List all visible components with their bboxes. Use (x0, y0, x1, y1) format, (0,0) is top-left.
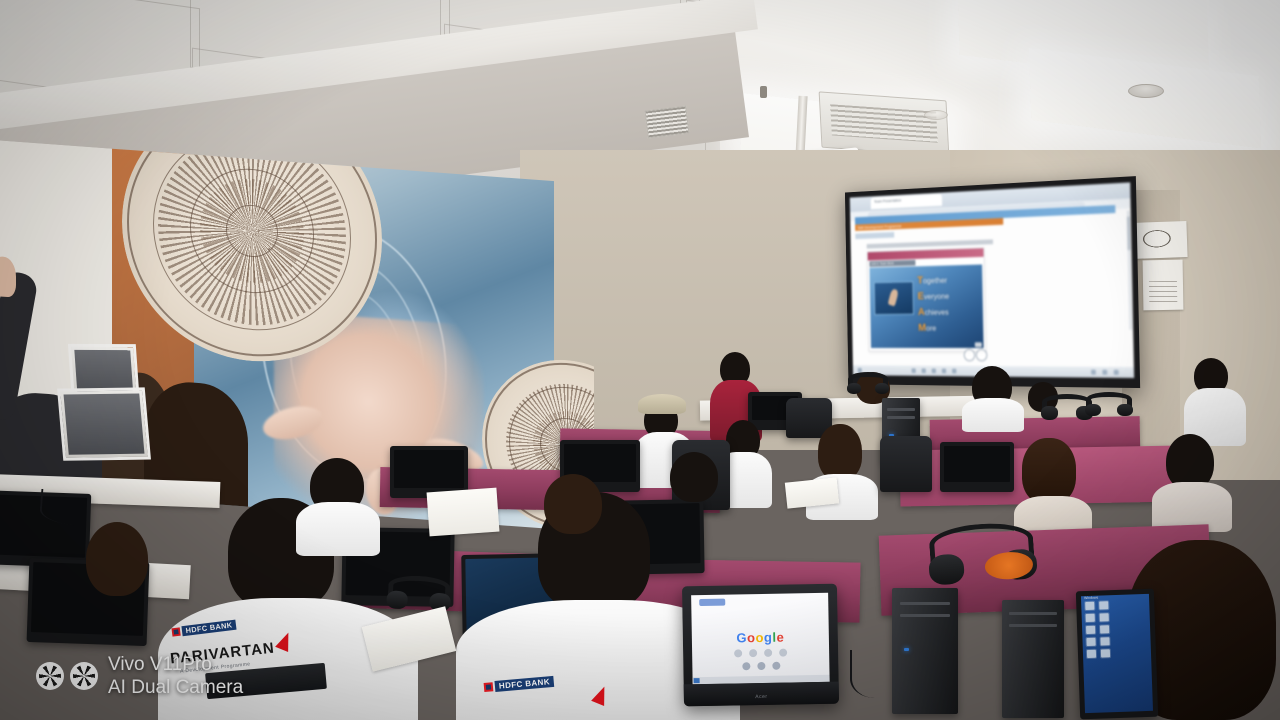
sprinkler-head (760, 86, 767, 98)
media-prev-icon[interactable] (964, 349, 975, 361)
watermark-icons (36, 662, 98, 690)
hdfc-mark-icon (171, 627, 180, 636)
monitor-brand-label: Acer (755, 694, 767, 700)
windows-desktop[interactable]: Windows (1081, 594, 1153, 713)
student-head-center-2 (544, 474, 602, 534)
watermark-text: Vivo V11Pro AI Dual Camera (108, 653, 243, 701)
watermark-line-2: AI Dual Camera (108, 676, 243, 700)
wall-notice-top (1130, 221, 1187, 259)
camera-shutter-icon (36, 662, 64, 690)
slide-panel-label: Unit 4: Team Work (871, 261, 894, 265)
monitor-bezel-bottom: Acer (684, 682, 839, 707)
media-play-icon[interactable] (976, 349, 988, 361)
chair-mid-2 (880, 436, 932, 492)
student-head-left-2 (86, 522, 148, 596)
student-shirt-left-3 (296, 502, 380, 556)
baseball-cap-icon (638, 394, 686, 414)
slide-badge-icon (975, 342, 982, 347)
foreground-monitor: Google Acer (682, 584, 839, 707)
slide-card: Unit 4: Team Work Together Everyone (867, 247, 987, 351)
team-acronym-list: Together Everyone Achieves More (917, 271, 981, 336)
student-head-center-3 (670, 452, 718, 502)
wall-notice-bottom (1143, 260, 1184, 311)
smoke-detector-2 (924, 110, 948, 120)
start-button-icon[interactable] (694, 678, 700, 683)
team-word: chieves (925, 307, 949, 317)
team-word: veryone (924, 291, 949, 301)
headset-front-orange[interactable] (928, 520, 1036, 585)
right-monitor: Windows (1076, 589, 1158, 720)
browser-tab-thumb[interactable] (699, 599, 725, 606)
headset-back-right-2 (1086, 392, 1132, 416)
projection-screen-content: Team Presentation Skill Development Prog… (850, 182, 1134, 378)
projection-screen: Team Presentation Skill Development Prog… (845, 176, 1140, 388)
cable-bundle-2 (850, 650, 912, 698)
headset-back-left (848, 372, 888, 394)
air-grille (644, 106, 689, 139)
slide-thumbnail (874, 281, 914, 315)
google-homepage[interactable]: Google (691, 593, 830, 684)
windows-label: Windows (1084, 596, 1098, 600)
team-word: ogether (923, 275, 947, 285)
ac-vent-ceiling (819, 91, 950, 156)
person-shirt-back-1 (962, 398, 1024, 432)
cpu-tower-front-right (1002, 600, 1064, 718)
site-banner-label: Skill Development Programme (857, 223, 901, 229)
slide-card-header (868, 248, 984, 260)
person-head-mid-1 (818, 424, 862, 480)
shortcut-row-1[interactable] (692, 648, 829, 658)
monitor-mid-3 (940, 442, 1014, 492)
smoke-detector (1128, 84, 1164, 98)
logo-letter: g (764, 629, 773, 644)
camera-watermark: Vivo V11Pro AI Dual Camera (36, 653, 243, 701)
team-word: ore (926, 323, 936, 332)
paper-sheet-desk (427, 488, 500, 537)
watermark-line-1: Vivo V11Pro (108, 653, 243, 677)
team-row: More (918, 320, 981, 336)
photo-scene: Team Presentation Skill Development Prog… (0, 0, 1280, 720)
logo-letter: o (747, 630, 756, 645)
shortcut-row-2[interactable] (692, 660, 829, 670)
logo-letter: G (736, 630, 747, 645)
browser-tab-label: Team Presentation (874, 198, 901, 204)
paper-on-desk-mid (785, 477, 839, 508)
page-scrollbar[interactable] (1127, 210, 1132, 330)
person-head-mid-2 (1022, 438, 1076, 504)
camera-shutter-icon-2 (70, 662, 98, 690)
google-logo: Google (692, 628, 829, 645)
site-subnav[interactable] (855, 232, 894, 239)
mural-monitor-2 (57, 387, 151, 460)
hdfc-mark-icon (484, 682, 494, 692)
desktop-icons[interactable] (1085, 601, 1110, 658)
team-slide: Together Everyone Achieves More (870, 264, 984, 348)
team-row: Together (917, 271, 980, 288)
team-row: Achieves (918, 303, 981, 320)
team-row: Everyone (918, 287, 981, 304)
logo-letter: e (776, 629, 784, 644)
